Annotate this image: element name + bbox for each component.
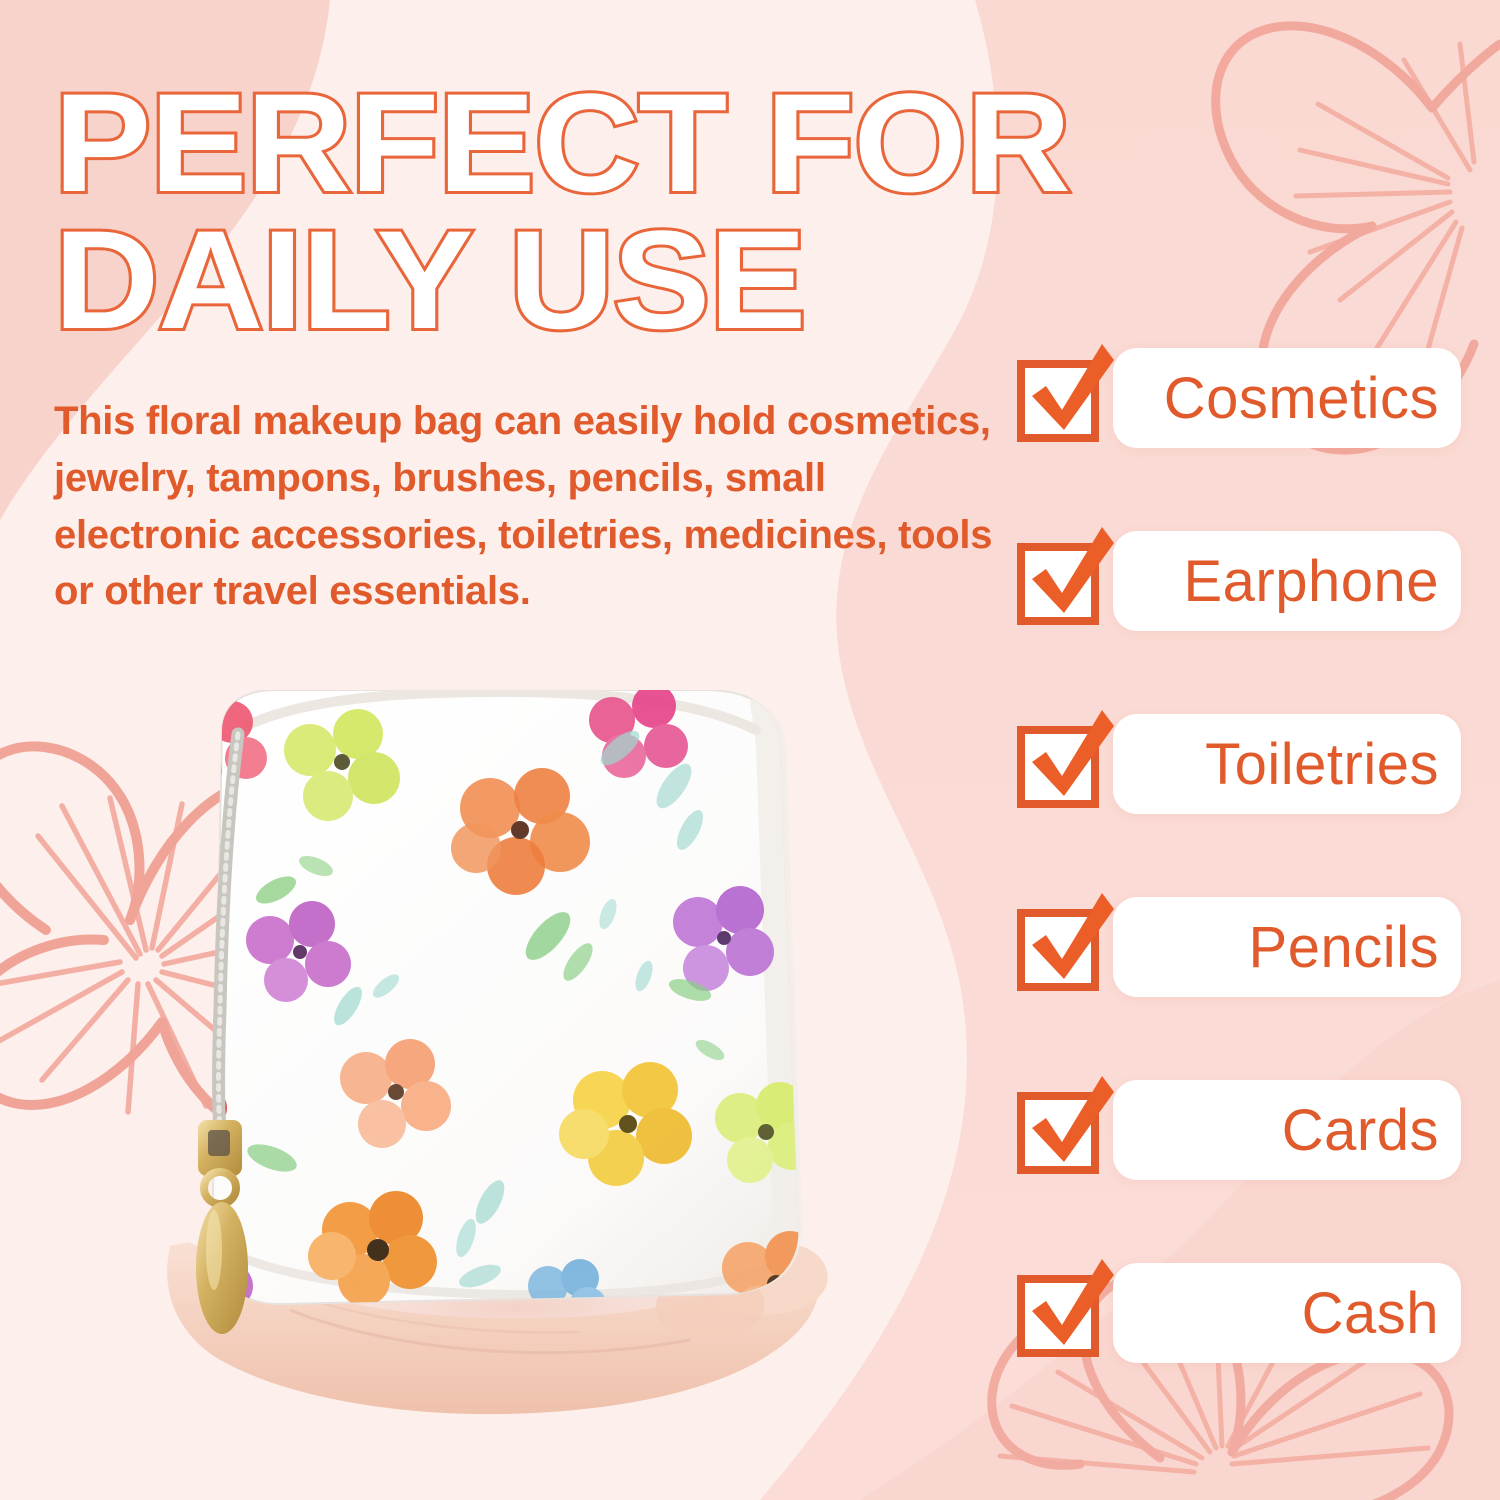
poster-canvas: PERFECT FOR DAILY USE This floral makeup… — [0, 0, 1500, 1500]
checkbox-checked-icon[interactable] — [1016, 348, 1112, 444]
zipper-pull — [196, 1202, 248, 1334]
checklist-label: Cards — [1282, 1097, 1439, 1164]
checklist-label: Toiletries — [1205, 731, 1439, 798]
description-paragraph: This floral makeup bag can easily hold c… — [54, 393, 1004, 620]
checkbox-checked-icon[interactable] — [1016, 531, 1112, 627]
checklist-pill[interactable]: Toiletries — [1113, 714, 1461, 814]
checklist-pill[interactable]: Cards — [1113, 1080, 1461, 1180]
checklist-pill[interactable]: Earphone — [1113, 531, 1461, 631]
checklist-row[interactable]: Earphone — [1008, 523, 1478, 706]
makeup-bag — [150, 690, 872, 1347]
checklist-label: Pencils — [1249, 914, 1439, 981]
feature-checklist: Cosmetics Earphone — [1008, 340, 1478, 1438]
page-title: PERFECT FOR DAILY USE — [54, 74, 1094, 348]
checklist-row[interactable]: Cosmetics — [1008, 340, 1478, 523]
checklist-row[interactable]: Toiletries — [1008, 706, 1478, 889]
checklist-row[interactable]: Pencils — [1008, 889, 1478, 1072]
product-image — [150, 690, 910, 1430]
checkbox-checked-icon[interactable] — [1016, 1080, 1112, 1176]
checklist-pill[interactable]: Cosmetics — [1113, 348, 1461, 448]
checklist-row[interactable]: Cards — [1008, 1072, 1478, 1255]
checklist-label: Cash — [1302, 1280, 1439, 1347]
checkbox-checked-icon[interactable] — [1016, 897, 1112, 993]
checklist-label: Earphone — [1183, 548, 1439, 615]
checklist-label: Cosmetics — [1164, 365, 1439, 432]
checkbox-checked-icon[interactable] — [1016, 1263, 1112, 1359]
checklist-pill[interactable]: Pencils — [1113, 897, 1461, 997]
checklist-pill[interactable]: Cash — [1113, 1263, 1461, 1363]
checklist-row[interactable]: Cash — [1008, 1255, 1478, 1438]
checkbox-checked-icon[interactable] — [1016, 714, 1112, 810]
